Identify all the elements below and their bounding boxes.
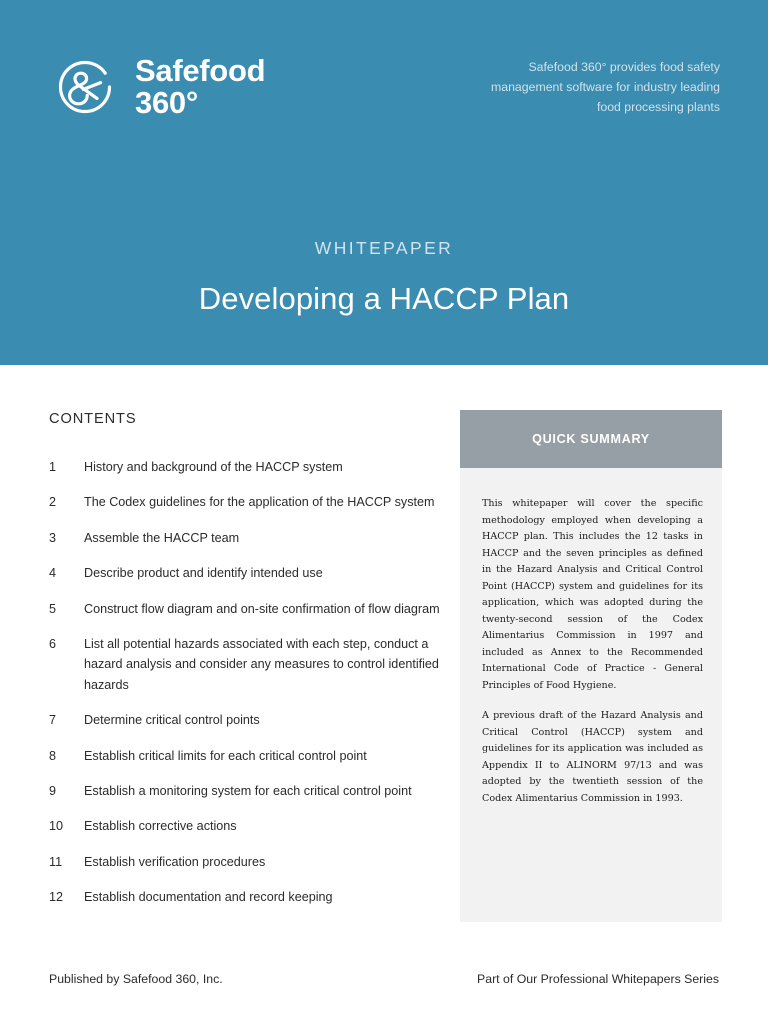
contents-item-label: Determine critical control points xyxy=(84,710,260,730)
footer-series: Part of Our Professional Whitepapers Ser… xyxy=(477,972,719,986)
safefood-ampersand-circle-logo xyxy=(49,51,121,123)
contents-item-number: 5 xyxy=(49,599,84,619)
contents-item[interactable]: 10Establish corrective actions xyxy=(49,816,441,836)
contents-item-number: 2 xyxy=(49,492,84,512)
contents-item[interactable]: 4Describe product and identify intended … xyxy=(49,563,441,583)
contents-item-label: The Codex guidelines for the application… xyxy=(84,492,434,512)
title-block: WHITEPAPER Developing a HACCP Plan xyxy=(0,238,768,317)
contents-item-label: Establish corrective actions xyxy=(84,816,237,836)
contents-item[interactable]: 12Establish documentation and record kee… xyxy=(49,887,441,907)
footer-publisher: Published by Safefood 360, Inc. xyxy=(49,972,223,986)
contents-section: CONTENTS 1History and background of the … xyxy=(49,411,441,922)
contents-item[interactable]: 7Determine critical control points xyxy=(49,710,441,730)
contents-item[interactable]: 8Establish critical limits for each crit… xyxy=(49,746,441,766)
contents-list: 1History and background of the HACCP sys… xyxy=(49,457,441,907)
contents-item-number: 1 xyxy=(49,457,84,477)
page-footer: Published by Safefood 360, Inc. Part of … xyxy=(49,972,719,986)
contents-item[interactable]: 2The Codex guidelines for the applicatio… xyxy=(49,492,441,512)
contents-item-number: 4 xyxy=(49,563,84,583)
brand-logo: Safefood 360° xyxy=(49,51,265,123)
contents-item[interactable]: 5Construct flow diagram and on-site conf… xyxy=(49,599,441,619)
contents-item[interactable]: 11Establish verification procedures xyxy=(49,852,441,872)
contents-item-label: Establish critical limits for each criti… xyxy=(84,746,367,766)
contents-item[interactable]: 1History and background of the HACCP sys… xyxy=(49,457,441,477)
contents-item-label: Establish a monitoring system for each c… xyxy=(84,781,412,801)
contents-item-number: 6 xyxy=(49,634,84,654)
quick-summary-panel: QUICK SUMMARY This whitepaper will cover… xyxy=(460,410,722,922)
contents-item-number: 7 xyxy=(49,710,84,730)
contents-item-number: 12 xyxy=(49,887,84,907)
contents-item-number: 8 xyxy=(49,746,84,766)
contents-item-number: 10 xyxy=(49,816,84,836)
header-band: Safefood 360° Safefood 360° provides foo… xyxy=(0,0,768,365)
contents-item-number: 11 xyxy=(49,852,84,872)
quick-summary-title: QUICK SUMMARY xyxy=(532,432,650,446)
document-kicker: WHITEPAPER xyxy=(0,238,768,259)
contents-item-label: Establish verification procedures xyxy=(84,852,265,872)
contents-item-number: 9 xyxy=(49,781,84,801)
contents-item-label: History and background of the HACCP syst… xyxy=(84,457,343,477)
contents-item-number: 3 xyxy=(49,528,84,548)
brand-wordmark-line1: Safefood xyxy=(135,53,265,88)
quick-summary-paragraph: This whitepaper will cover the specific … xyxy=(482,496,703,694)
contents-item[interactable]: 6List all potential hazards associated w… xyxy=(49,634,441,695)
brand-tagline: Safefood 360° provides food safety manag… xyxy=(470,58,720,118)
contents-item-label: Assemble the HACCP team xyxy=(84,528,239,548)
contents-item-label: Construct flow diagram and on-site confi… xyxy=(84,599,440,619)
brand-wordmark: Safefood 360° xyxy=(135,55,265,119)
contents-item[interactable]: 9Establish a monitoring system for each … xyxy=(49,781,441,801)
brand-wordmark-line2: 360° xyxy=(135,87,265,119)
quick-summary-paragraph: A previous draft of the Hazard Analysis … xyxy=(482,708,703,807)
contents-item-label: List all potential hazards associated wi… xyxy=(84,634,441,695)
page-title: Developing a HACCP Plan xyxy=(0,281,768,317)
contents-heading: CONTENTS xyxy=(49,411,441,427)
contents-item[interactable]: 3Assemble the HACCP team xyxy=(49,528,441,548)
quick-summary-header: QUICK SUMMARY xyxy=(460,410,722,468)
quick-summary-body: This whitepaper will cover the specific … xyxy=(460,468,722,807)
contents-item-label: Establish documentation and record keepi… xyxy=(84,887,333,907)
contents-item-label: Describe product and identify intended u… xyxy=(84,563,323,583)
